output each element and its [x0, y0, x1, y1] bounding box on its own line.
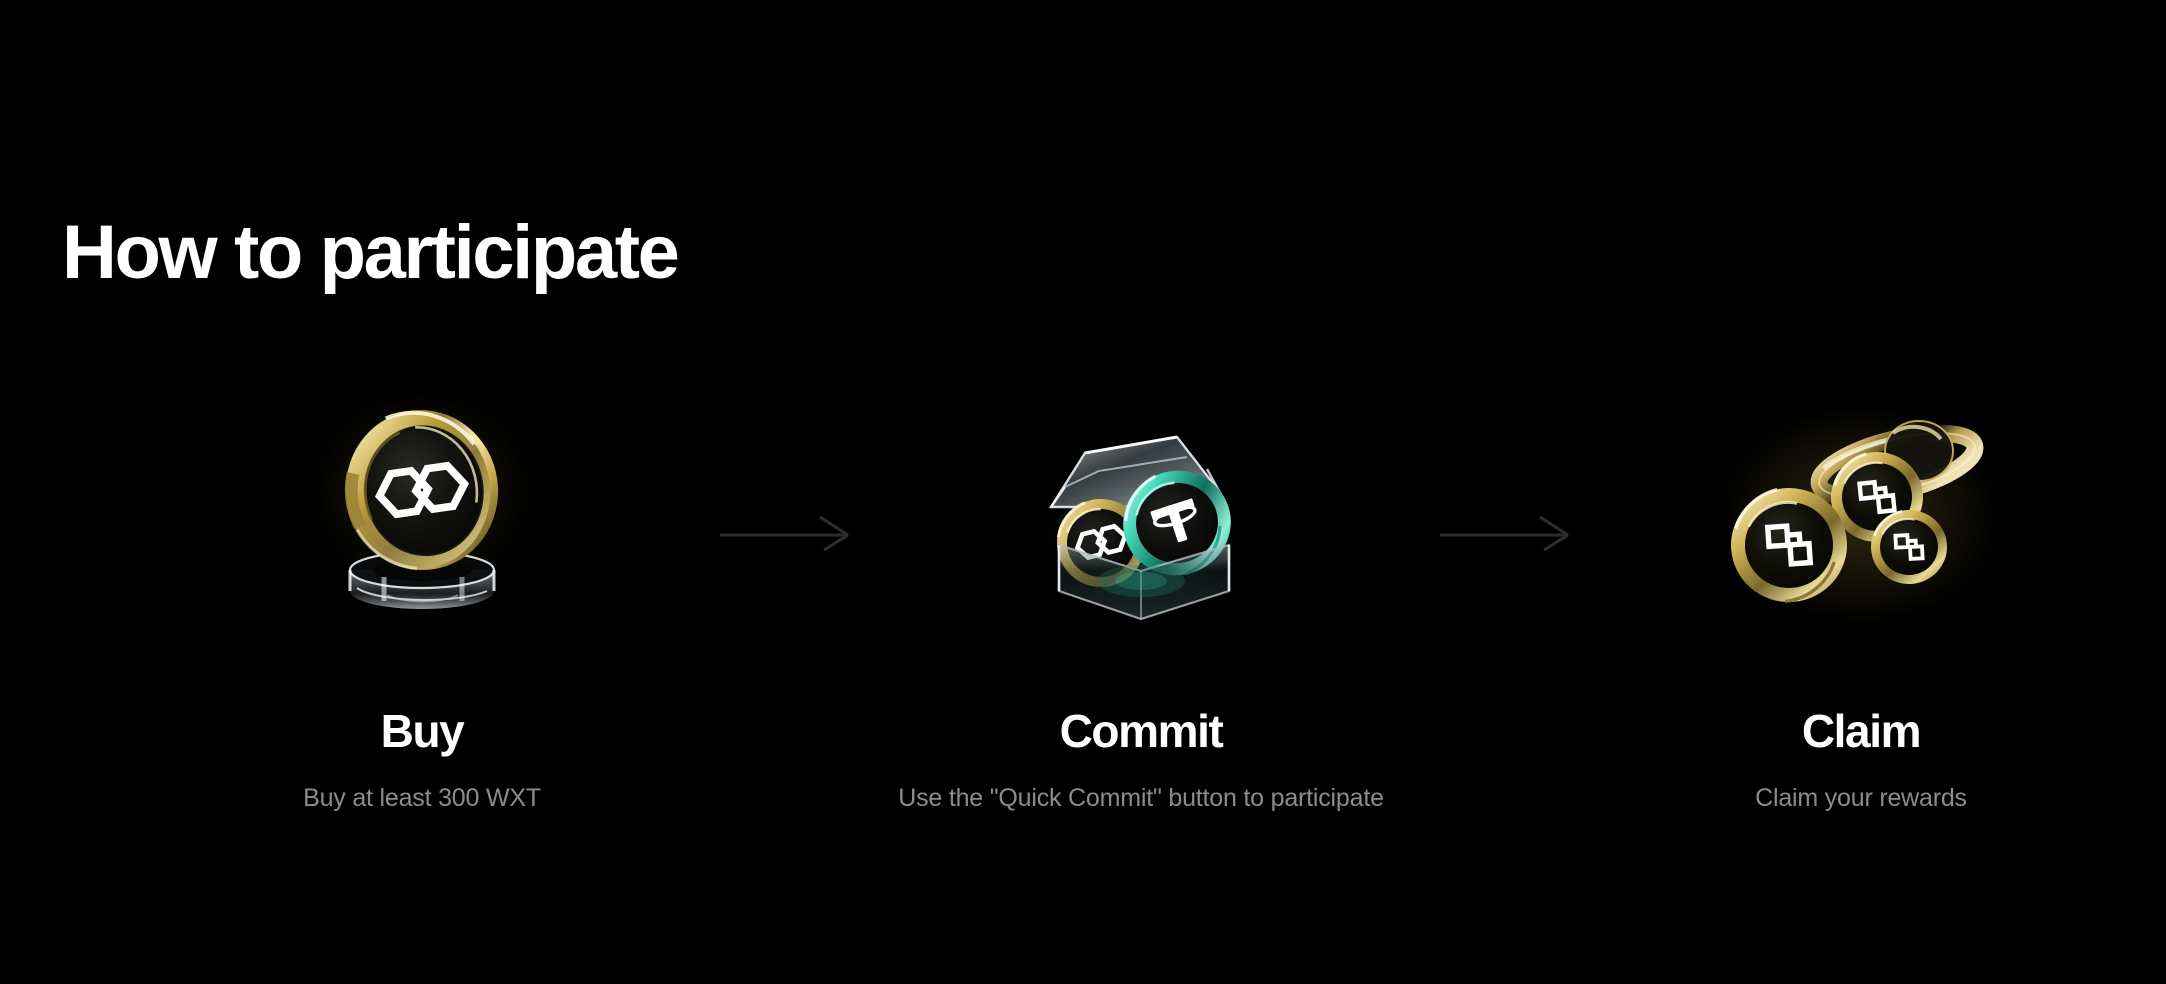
step-commit-artwork [861, 395, 1421, 635]
step-claim: Claim Claim your rewards [1581, 395, 2141, 875]
step-commit: Commit Use the "Quick Commit" button to … [861, 395, 1421, 875]
step-title: Buy [142, 707, 702, 755]
arrow-buy-to-commit [700, 505, 880, 555]
step-description: Claim your rewards [1581, 783, 2141, 813]
gold-wxt-coin-on-glass-pedestal-icon [262, 395, 582, 635]
gold-reward-coins-with-ring-icon [1701, 395, 2021, 635]
step-title: Claim [1581, 707, 2141, 755]
how-to-participate-section: How to participate [0, 0, 2166, 984]
arrow-right-icon [700, 505, 880, 555]
page-title: How to participate [62, 215, 678, 291]
steps-row: Buy Buy at least 300 WXT [0, 395, 2166, 875]
arrow-commit-to-claim [1420, 505, 1600, 555]
arrow-right-icon [1420, 505, 1600, 555]
step-title: Commit [861, 707, 1421, 755]
glass-box-with-wxt-and-usdt-coins-icon [981, 395, 1301, 635]
step-claim-artwork [1581, 395, 2141, 635]
step-description: Use the "Quick Commit" button to partici… [861, 783, 1421, 813]
step-buy-artwork [142, 395, 702, 635]
step-buy: Buy Buy at least 300 WXT [142, 395, 702, 875]
step-description: Buy at least 300 WXT [142, 783, 702, 813]
